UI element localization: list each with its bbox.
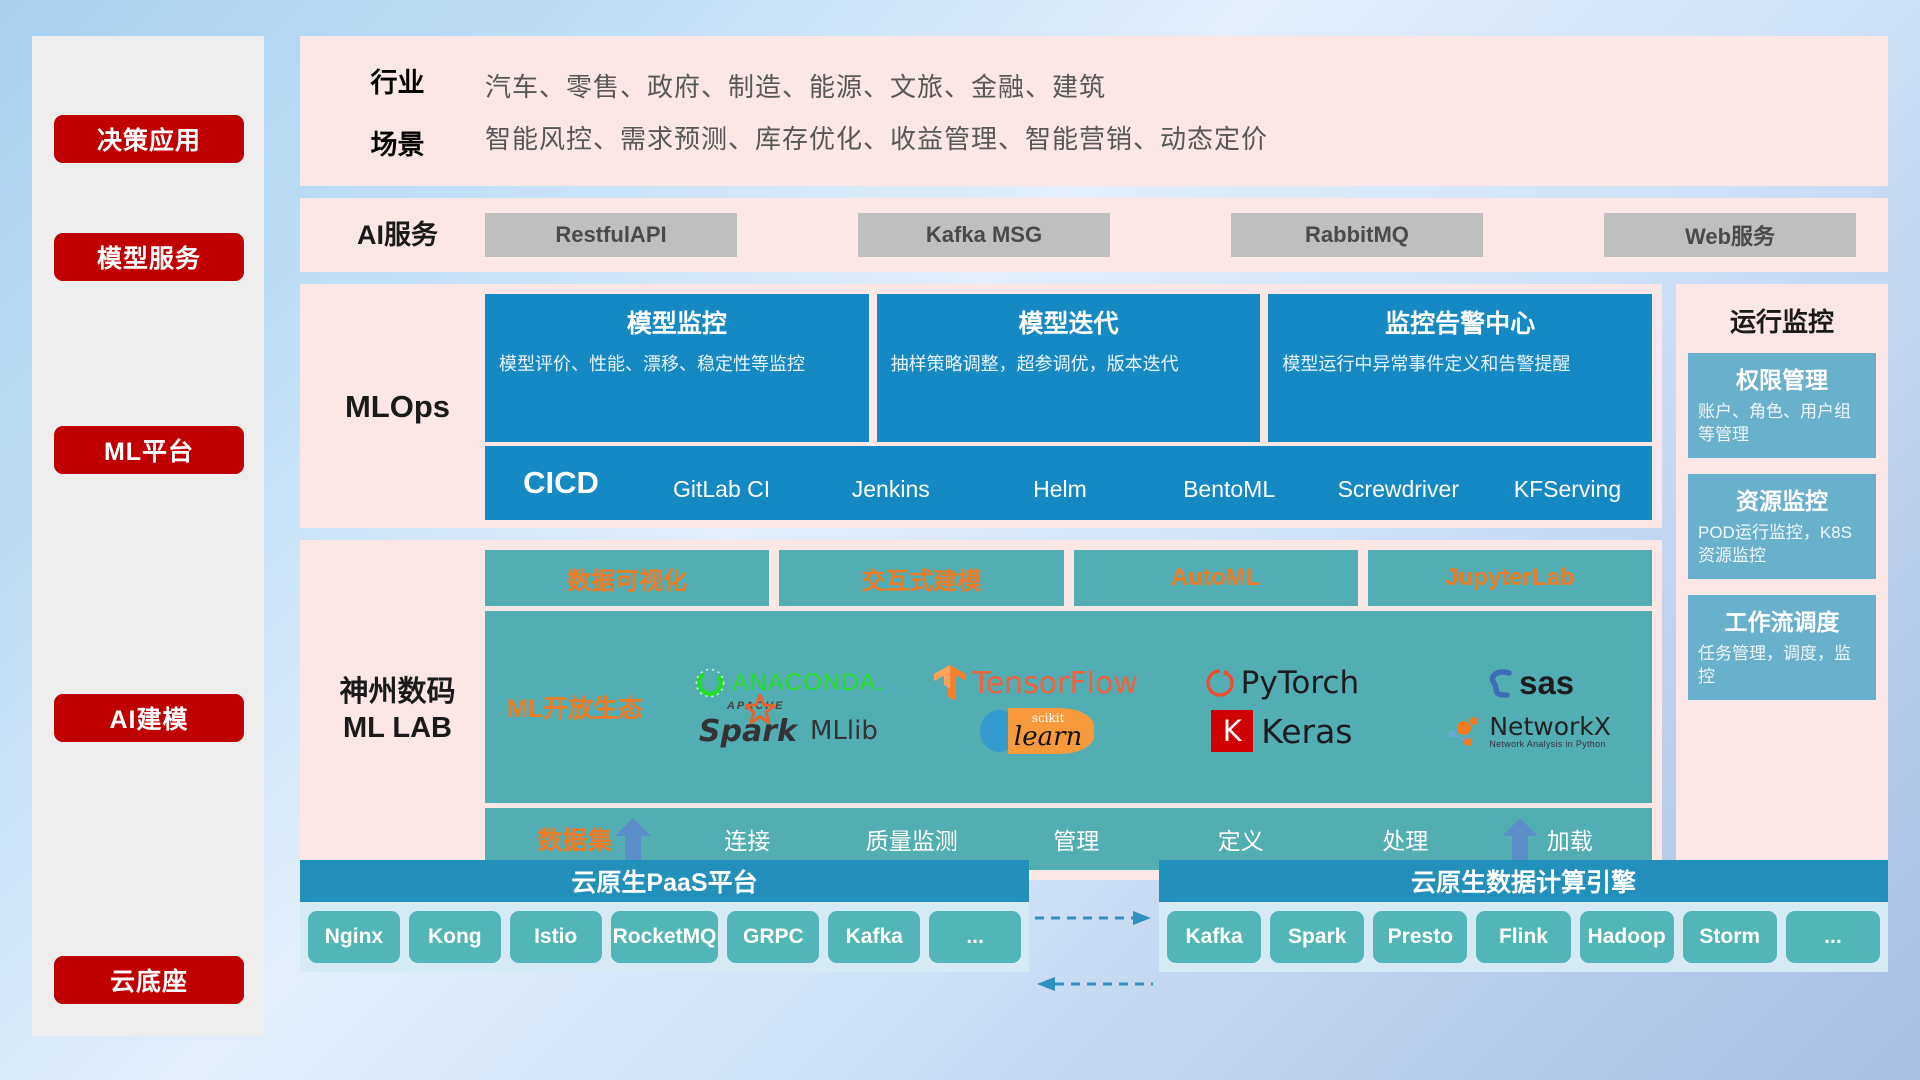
lab-chip-jupyterlab[interactable]: JupyterLab	[1368, 550, 1652, 606]
cicd-item-list: GitLab CI Jenkins Helm BentoML Screwdriv…	[637, 465, 1652, 501]
lab-chip-data-visualization[interactable]: 数据可视化	[485, 550, 769, 606]
ai-service-body: RestfulAPI Kafka MSG RabbitMQ Web服务	[485, 213, 1878, 257]
cicd-item-jenkins[interactable]: Jenkins	[806, 465, 975, 501]
engine-chip-kafka[interactable]: Kafka	[1167, 911, 1261, 963]
industry-scenario-band: 行业 场景 汽车、零售、政府、制造、能源、文旅、金融、建筑 智能风控、需求预测、…	[300, 36, 1888, 186]
card-desc: 模型运行中异常事件定义和告警提醒	[1282, 352, 1638, 378]
cicd-item-helm[interactable]: Helm	[975, 465, 1144, 501]
dataset-item-quality-monitoring[interactable]: 质量监测	[830, 822, 995, 856]
tier-label: 云底座	[110, 962, 188, 998]
service-box-kafka-msg[interactable]: Kafka MSG	[858, 213, 1110, 257]
sas-wordmark: sas	[1519, 664, 1574, 702]
engine-chip-row: Kafka Spark Presto Flink Hadoop Storm ..…	[1159, 902, 1888, 972]
tier-label: 模型服务	[97, 239, 201, 275]
engine-chip-more[interactable]: ...	[1786, 911, 1880, 963]
networkx-wordmark: NetworkX	[1489, 714, 1611, 739]
scenario-label: 场景	[310, 116, 485, 168]
tier-pill-ai-modeling[interactable]: AI建模	[54, 694, 244, 742]
mlops-body: 模型监控 模型评价、性能、漂移、稳定性等监控 模型迭代 抽样策略调整，超参调优，…	[485, 294, 1652, 520]
ai-service-band: AI服务 RestfulAPI Kafka MSG RabbitMQ Web服务	[300, 198, 1888, 272]
industry-row: 汽车、零售、政府、制造、能源、文旅、金融、建筑	[485, 59, 1878, 111]
mlops-label: MLOps	[310, 294, 485, 520]
tier-pill-ml-platform[interactable]: ML平台	[54, 426, 244, 474]
tier-pill-decision-app[interactable]: 决策应用	[54, 115, 244, 163]
engine-chip-flink[interactable]: Flink	[1476, 911, 1570, 963]
monitor-card-permission-management[interactable]: 权限管理 账户、角色、用户组等管理	[1688, 353, 1876, 458]
keras-wordmark: Keras	[1261, 712, 1352, 751]
tier-pill-model-service[interactable]: 模型服务	[54, 233, 244, 281]
service-box-rabbitmq[interactable]: RabbitMQ	[1231, 213, 1483, 257]
tier-label: 决策应用	[97, 121, 201, 157]
monitor-card-workflow-scheduling[interactable]: 工作流调度 任务管理，调度，监控	[1688, 595, 1876, 700]
dataset-item-connect[interactable]: 连接	[665, 822, 830, 856]
industry-scenario-labels: 行业 场景	[310, 54, 485, 168]
mlops-card-alert-center[interactable]: 监控告警中心 模型运行中异常事件定义和告警提醒	[1268, 294, 1652, 442]
panel-connector	[1029, 860, 1159, 1050]
keras-icon: K	[1211, 710, 1253, 752]
card-title: 资源监控	[1698, 482, 1866, 516]
scikit-learn-logo: scikit learn	[976, 707, 1094, 755]
platform-section: MLOps 模型监控 模型评价、性能、漂移、稳定性等监控 模型迭代 抽样策略调整…	[300, 284, 1888, 892]
paas-chip-more[interactable]: ...	[929, 911, 1021, 963]
monitor-card-resource-monitoring[interactable]: 资源监控 POD运行监控，K8S资源监控	[1688, 474, 1876, 579]
tensorflow-icon	[932, 663, 968, 703]
lab-chip-automl[interactable]: AutoML	[1074, 550, 1358, 606]
arrow-right-icon	[1035, 910, 1153, 926]
card-title: 权限管理	[1698, 361, 1866, 395]
scenario-value: 智能风控、需求预测、库存优化、收益管理、智能营销、动态定价	[485, 119, 1268, 156]
paas-chip-kafka[interactable]: Kafka	[828, 911, 920, 963]
cicd-bar: CICD GitLab CI Jenkins Helm BentoML Scre…	[485, 446, 1652, 520]
sas-icon	[1483, 666, 1517, 700]
learn-text: learn	[1014, 725, 1082, 750]
tier-rail: 决策应用 模型服务 ML平台 AI建模 云底座	[32, 36, 264, 1036]
ml-open-ecosystem-title: ML开放生态	[485, 689, 665, 725]
scenario-row: 智能风控、需求预测、库存优化、收益管理、智能营销、动态定价	[485, 111, 1878, 163]
card-title: 模型监控	[499, 304, 855, 340]
anaconda-logo: ANACONDA.	[693, 666, 885, 700]
ml-lab-chip-row: 数据可视化 交互式建模 AutoML JupyterLab	[485, 550, 1652, 606]
networkx-tagline: Network Analysis in Python	[1489, 739, 1611, 749]
mllib-wordmark: MLlib	[810, 716, 878, 746]
paas-chip-grpc[interactable]: GRPC	[727, 911, 819, 963]
ml-lab-label-line1: 神州数码	[339, 674, 455, 710]
cicd-item-gitlab-ci[interactable]: GitLab CI	[637, 465, 806, 501]
card-desc: 模型评价、性能、漂移、稳定性等监控	[499, 352, 855, 378]
data-engine-title: 云原生数据计算引擎	[1159, 860, 1888, 902]
architecture-main: 行业 场景 汽车、零售、政府、制造、能源、文旅、金融、建筑 智能风控、需求预测、…	[300, 36, 1888, 892]
ml-lab-label-line2: ML LAB	[339, 710, 455, 746]
industry-label: 行业	[310, 54, 485, 106]
engine-chip-hadoop[interactable]: Hadoop	[1580, 911, 1674, 963]
pytorch-logo: PyTorch	[1205, 665, 1359, 701]
industry-scenario-values: 汽车、零售、政府、制造、能源、文旅、金融、建筑 智能风控、需求预测、库存优化、收…	[485, 59, 1878, 163]
platform-left-column: MLOps 模型监控 模型评价、性能、漂移、稳定性等监控 模型迭代 抽样策略调整…	[300, 284, 1662, 892]
engine-chip-spark[interactable]: Spark	[1270, 911, 1364, 963]
tensorflow-logo: TensorFlow	[932, 663, 1138, 703]
paas-chip-rocketmq[interactable]: RocketMQ	[611, 911, 719, 963]
paas-chip-kong[interactable]: Kong	[409, 911, 501, 963]
ml-open-ecosystem: ML开放生态 ANACONDA.	[485, 611, 1652, 803]
card-desc: 账户、角色、用户组等管理	[1698, 401, 1866, 447]
data-engine-panel: 云原生数据计算引擎 Kafka Spark Presto Flink Hadoo…	[1159, 860, 1888, 972]
service-box-restful-api[interactable]: RestfulAPI	[485, 213, 737, 257]
cicd-item-kfserving[interactable]: KFServing	[1483, 465, 1652, 501]
runtime-monitor-column: 运行监控 权限管理 账户、角色、用户组等管理 资源监控 POD运行监控，K8S资…	[1676, 284, 1888, 892]
engine-chip-presto[interactable]: Presto	[1373, 911, 1467, 963]
engine-up-arrow-icon	[1499, 818, 1541, 860]
paas-panel: 云原生PaaS平台 Nginx Kong Istio RocketMQ GRPC…	[300, 860, 1029, 972]
cicd-title: CICD	[485, 465, 637, 501]
logo-grid: ANACONDA. TensorFlow	[665, 659, 1652, 755]
mlops-card-model-iteration[interactable]: 模型迭代 抽样策略调整，超参调优，版本迭代	[877, 294, 1261, 442]
spark-mllib-logo: APACHE Spark MLlib	[699, 714, 878, 749]
cloud-foundation-section: 云原生PaaS平台 Nginx Kong Istio RocketMQ GRPC…	[300, 860, 1888, 1050]
networkx-icon	[1446, 712, 1484, 750]
card-desc: 抽样策略调整，超参调优，版本迭代	[891, 352, 1247, 378]
mlops-card-model-monitoring[interactable]: 模型监控 模型评价、性能、漂移、稳定性等监控	[485, 294, 869, 442]
industry-value: 汽车、零售、政府、制造、能源、文旅、金融、建筑	[485, 67, 1106, 104]
engine-chip-storm[interactable]: Storm	[1683, 911, 1777, 963]
ml-lab-body: 数据可视化 交互式建模 AutoML JupyterLab ML开放生态	[485, 550, 1652, 870]
cicd-item-screwdriver[interactable]: Screwdriver	[1314, 465, 1483, 501]
pytorch-wordmark: PyTorch	[1241, 665, 1359, 701]
paas-chip-istio[interactable]: Istio	[510, 911, 602, 963]
networkx-logo: NetworkX Network Analysis in Python	[1446, 712, 1611, 750]
card-desc: POD运行监控，K8S资源监控	[1698, 522, 1866, 568]
mlops-card-row: 模型监控 模型评价、性能、漂移、稳定性等监控 模型迭代 抽样策略调整，超参调优，…	[485, 294, 1652, 442]
sas-logo: sas	[1483, 664, 1574, 702]
pytorch-icon	[1205, 666, 1235, 700]
card-title: 监控告警中心	[1282, 304, 1638, 340]
paas-chip-nginx[interactable]: Nginx	[308, 911, 400, 963]
paas-up-arrow-icon	[612, 818, 654, 860]
paas-title: 云原生PaaS平台	[300, 860, 1029, 902]
service-box-web-service[interactable]: Web服务	[1604, 213, 1856, 257]
dataset-item-management[interactable]: 管理	[994, 822, 1159, 856]
card-title: 工作流调度	[1698, 603, 1866, 637]
ai-service-list: RestfulAPI Kafka MSG RabbitMQ Web服务	[485, 213, 1878, 257]
tensorflow-wordmark: TensorFlow	[972, 666, 1138, 701]
card-desc: 任务管理，调度，监控	[1698, 643, 1866, 689]
runtime-monitor-title: 运行监控	[1688, 302, 1876, 339]
ml-lab-label: 神州数码 ML LAB	[310, 550, 485, 870]
paas-chip-row: Nginx Kong Istio RocketMQ GRPC Kafka ...	[300, 902, 1029, 972]
tier-pill-cloud-foundation[interactable]: 云底座	[54, 956, 244, 1004]
cicd-item-bentoml[interactable]: BentoML	[1145, 465, 1314, 501]
ml-lab-band: 神州数码 ML LAB 数据可视化 交互式建模 AutoML JupyterLa…	[300, 540, 1662, 880]
keras-logo: K Keras	[1211, 710, 1352, 752]
spark-star-icon	[745, 694, 775, 724]
ai-service-label: AI服务	[310, 218, 485, 253]
card-title: 模型迭代	[891, 304, 1247, 340]
lab-chip-interactive-modeling[interactable]: 交互式建模	[779, 550, 1063, 606]
arrow-left-icon	[1035, 976, 1153, 992]
dataset-item-processing[interactable]: 处理	[1323, 822, 1488, 856]
dataset-item-definition[interactable]: 定义	[1159, 822, 1324, 856]
tier-label: ML平台	[104, 432, 194, 468]
tier-label: AI建模	[109, 700, 188, 736]
mlops-band: MLOps 模型监控 模型评价、性能、漂移、稳定性等监控 模型迭代 抽样策略调整…	[300, 284, 1662, 528]
anaconda-icon	[693, 666, 727, 700]
